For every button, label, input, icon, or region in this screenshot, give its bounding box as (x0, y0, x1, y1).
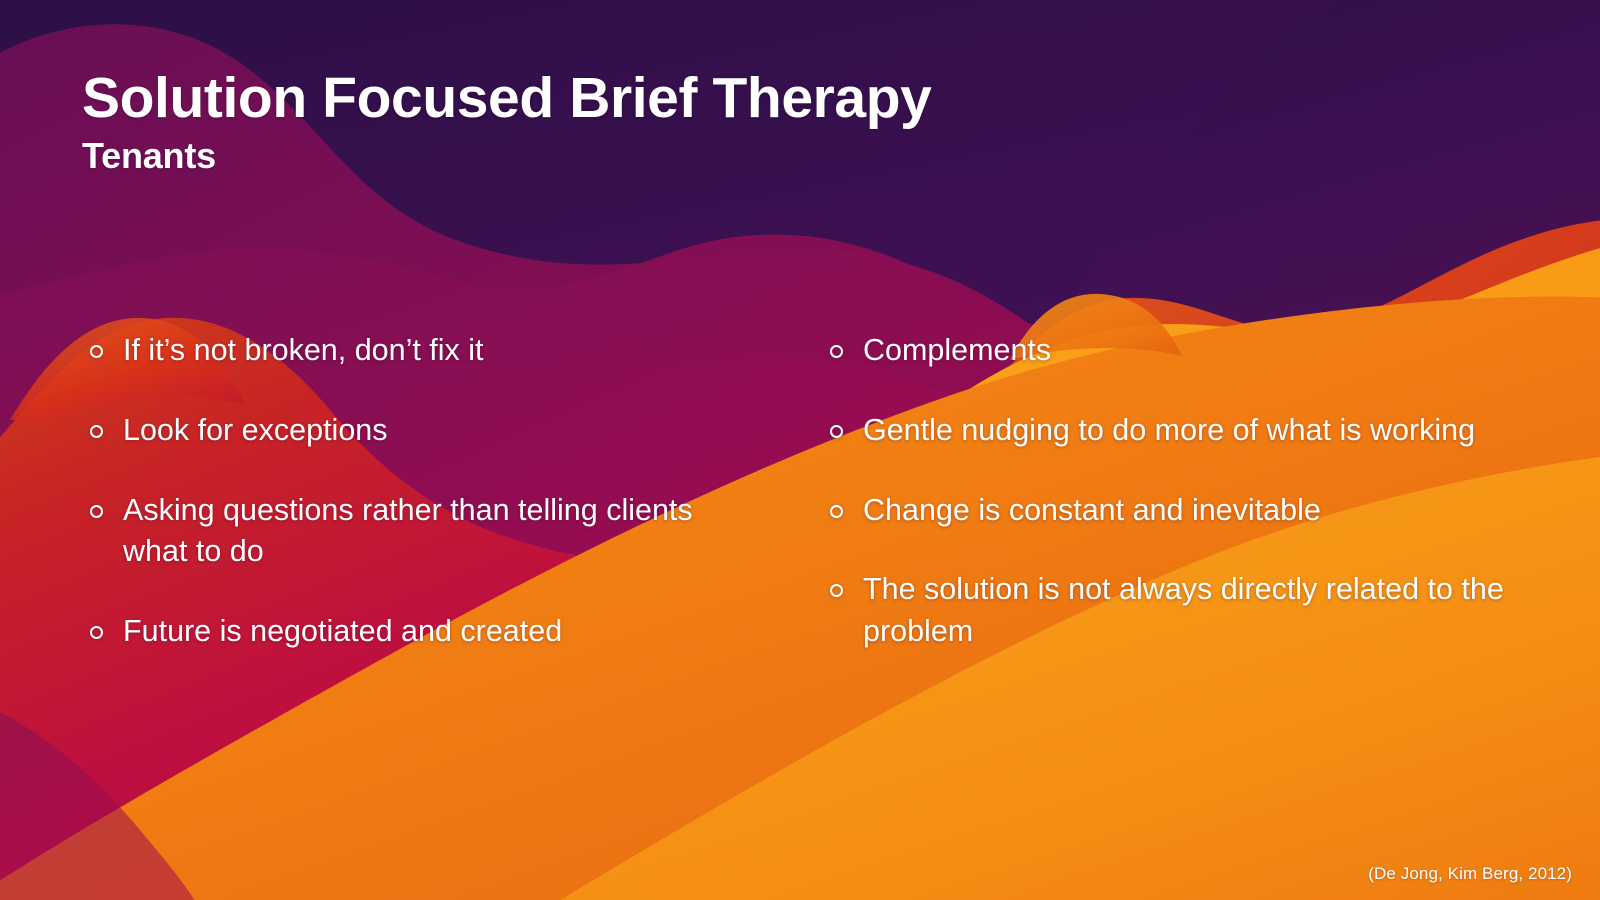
bullet-list-left: If it’s not broken, don’t fix it Look fo… (78, 330, 760, 653)
ring-bullet-icon (90, 505, 103, 518)
bullet-column-left: If it’s not broken, don’t fix it Look fo… (0, 330, 800, 653)
list-item: Gentle nudging to do more of what is wor… (818, 410, 1518, 452)
ring-bullet-icon (830, 425, 843, 438)
list-item-text: The solution is not always directly rela… (863, 572, 1504, 648)
list-item: Complements (818, 330, 1518, 372)
list-item-text: Look for exceptions (123, 413, 388, 447)
list-item-text: If it’s not broken, don’t fix it (123, 333, 484, 367)
slide-canvas: Solution Focused Brief Therapy Tenants I… (0, 0, 1600, 900)
bullet-column-right: Complements Gentle nudging to do more of… (818, 330, 1518, 653)
list-item: Future is negotiated and created (78, 611, 760, 653)
list-item-text: Future is negotiated and created (123, 614, 562, 648)
bullet-columns: If it’s not broken, don’t fix it Look fo… (0, 330, 1600, 653)
bullet-list-right: Complements Gentle nudging to do more of… (818, 330, 1518, 653)
list-item: Look for exceptions (78, 410, 760, 452)
ring-bullet-icon (90, 425, 103, 438)
source-citation: (De Jong, Kim Berg, 2012) (1368, 864, 1572, 884)
list-item-text: Complements (863, 333, 1051, 367)
page-subtitle: Tenants (82, 136, 1282, 176)
list-item-text: Asking questions rather than telling cli… (123, 493, 693, 569)
list-item: The solution is not always directly rela… (818, 569, 1518, 653)
list-item: If it’s not broken, don’t fix it (78, 330, 760, 372)
ring-bullet-icon (830, 505, 843, 518)
page-title: Solution Focused Brief Therapy (82, 68, 1282, 130)
ring-bullet-icon (830, 345, 843, 358)
list-item: Change is constant and inevitable (818, 490, 1518, 532)
ring-bullet-icon (90, 626, 103, 639)
ring-bullet-icon (830, 584, 843, 597)
list-item: Asking questions rather than telling cli… (78, 490, 760, 574)
list-item-text: Gentle nudging to do more of what is wor… (863, 413, 1475, 447)
title-block: Solution Focused Brief Therapy Tenants (82, 68, 1282, 175)
ring-bullet-icon (90, 345, 103, 358)
list-item-text: Change is constant and inevitable (863, 493, 1321, 527)
